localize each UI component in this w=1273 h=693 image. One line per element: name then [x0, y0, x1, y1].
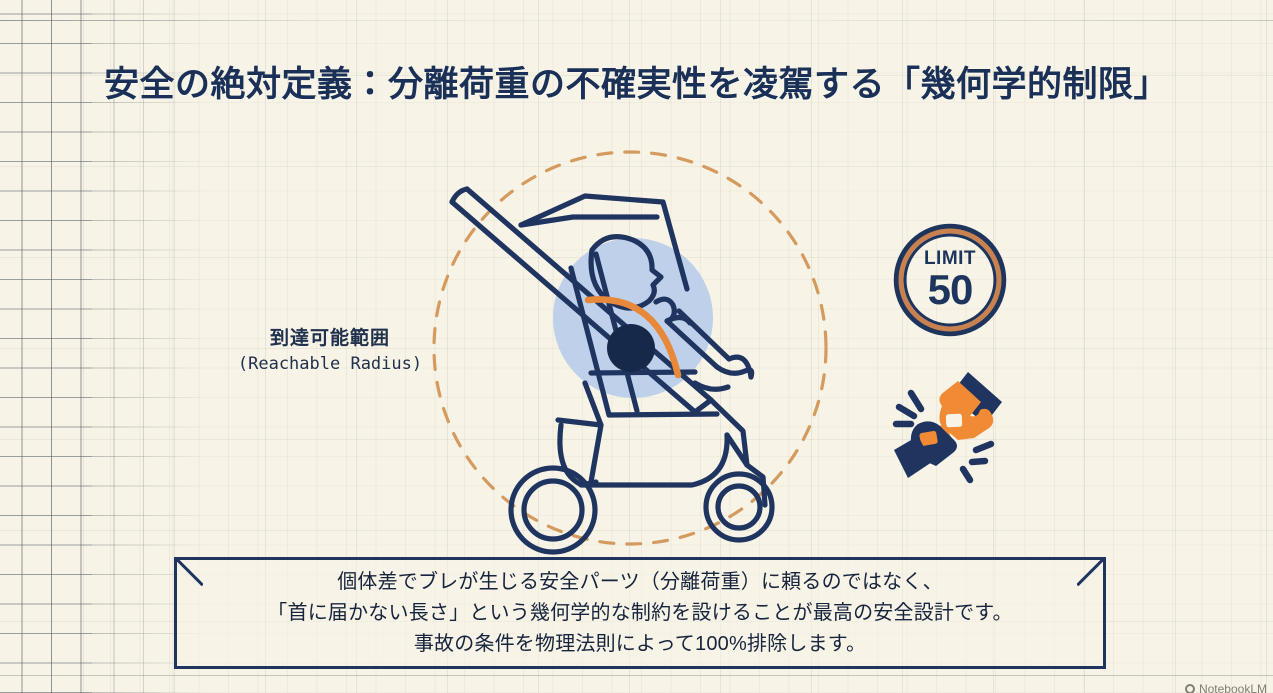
page-title: 安全の絶対定義：分離荷重の不確実性を凌駕する「幾何学的制限」 — [0, 56, 1273, 107]
limit-badge-text: LIMIT 50 — [892, 222, 1008, 338]
watermark-logo-icon — [1185, 684, 1195, 693]
limit-badge: LIMIT 50 — [892, 222, 1008, 338]
horizontal-rule-bottom — [0, 675, 1273, 676]
slide-canvas: 安全の絶対定義：分離荷重の不確実性を凌駕する「幾何学的制限」 到達可能範囲 (R… — [0, 0, 1273, 693]
horizontal-rule-top — [0, 20, 1273, 21]
watermark-text: NotebookLM — [1199, 682, 1267, 693]
limit-badge-number: 50 — [928, 269, 973, 311]
conclusion-text: 個体差でブレが生じる安全パーツ（分離荷重）に頼るのではなく、 「首に届かない長さ… — [177, 560, 1103, 666]
conclusion-line-1: 個体差でブレが生じる安全パーツ（分離荷重）に頼るのではなく、 — [337, 567, 943, 598]
pivot-center-dot — [607, 324, 655, 372]
conclusion-line-2: 「首に届かない長さ」という幾何学的な制約を設けることが最高の安全設計です。 — [267, 598, 1012, 629]
conclusion-box: 個体差でブレが生じる安全パーツ（分離荷重）に頼るのではなく、 「首に届かない長さ… — [174, 557, 1106, 669]
seatbelt-buckle-icon — [884, 362, 1014, 488]
watermark: NotebookLM — [1185, 682, 1267, 693]
conclusion-line-3: 事故の条件を物理法則によって100%排除します。 — [414, 629, 866, 660]
stroller-illustration — [395, 125, 875, 575]
